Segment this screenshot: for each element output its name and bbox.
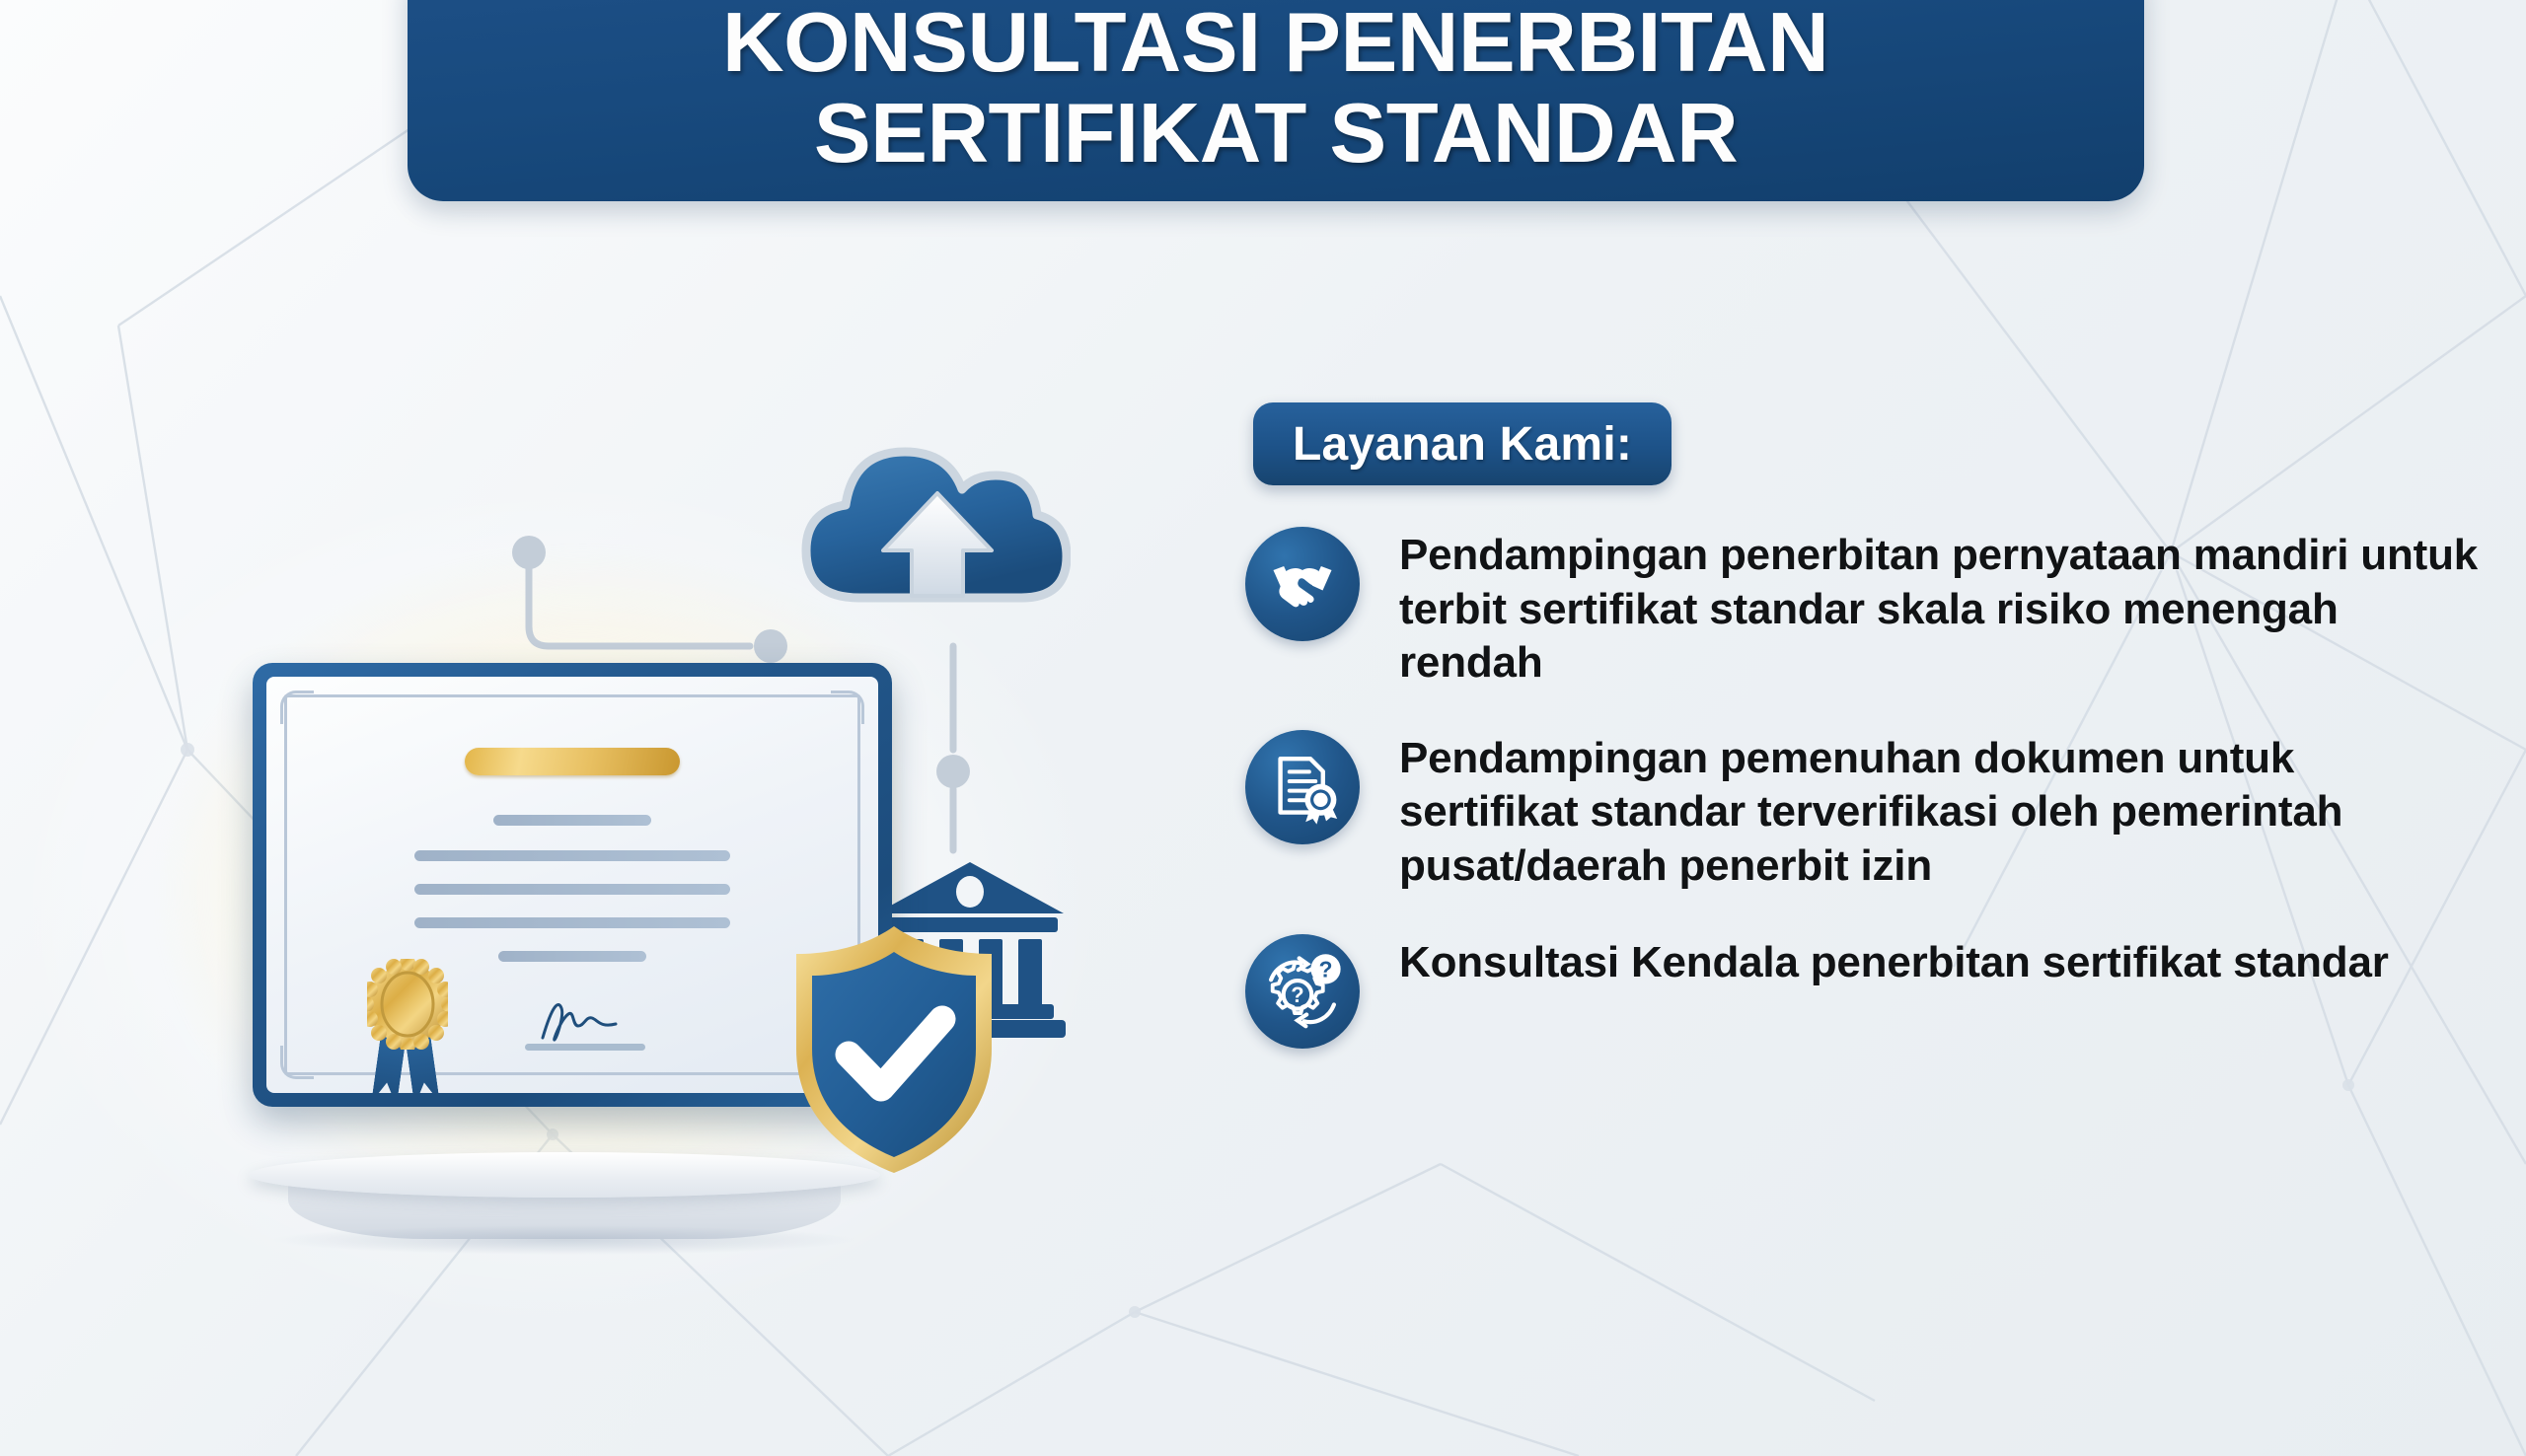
service-item-label: Pendampingan penerbitan pernyataan mandi… (1399, 527, 2479, 691)
seal-medallion (367, 959, 448, 1050)
certificate-text-line (498, 951, 646, 962)
service-item: Pendampingan penerbitan pernyataan mandi… (1245, 527, 2479, 691)
service-item: Pendampingan pemenuhan dokumen untuk ser… (1245, 730, 2479, 894)
certificate-seal (357, 955, 456, 1093)
poster-canvas: KONSULTASI PENERBITAN SERTIFIKAT STANDAR (0, 0, 2526, 1456)
display-podium (229, 1152, 900, 1259)
services-badge: Layanan Kami: (1253, 402, 1672, 485)
verified-shield-icon (784, 922, 1003, 1177)
service-item: ? ? Konsultasi Kendala penerbitan sertif… (1245, 934, 2479, 1049)
signature-rule (525, 1044, 645, 1051)
services-badge-label: Layanan Kami: (1293, 417, 1632, 472)
signature-mark (535, 998, 624, 1044)
certificate-corner-bottom-left (280, 1046, 314, 1079)
certificate-text-line (414, 884, 730, 895)
certificate-text-line (414, 850, 730, 861)
handshake-icon (1245, 527, 1360, 641)
certified-document-icon (1245, 730, 1360, 844)
certificate-title-bar (465, 748, 680, 775)
certificate-text-line (414, 917, 730, 928)
services-section: Layanan Kami: Pendampingan penerbitan pe… (1245, 402, 2479, 1049)
certificate-corner-top-right (831, 691, 864, 724)
cloud-upload-icon (784, 412, 1071, 639)
svg-text:?: ? (1291, 983, 1303, 1007)
certificate-corner-top-left (280, 691, 314, 724)
svg-text:?: ? (1319, 957, 1333, 983)
service-item-label: Pendampingan pemenuhan dokumen untuk ser… (1399, 730, 2479, 894)
service-item-label: Konsultasi Kendala penerbitan sertifikat… (1399, 934, 2389, 990)
certificate-text-line (493, 815, 651, 826)
gear-question-icon: ? ? (1245, 934, 1360, 1049)
podium-shadow (268, 1225, 860, 1255)
podium-top (249, 1152, 880, 1198)
